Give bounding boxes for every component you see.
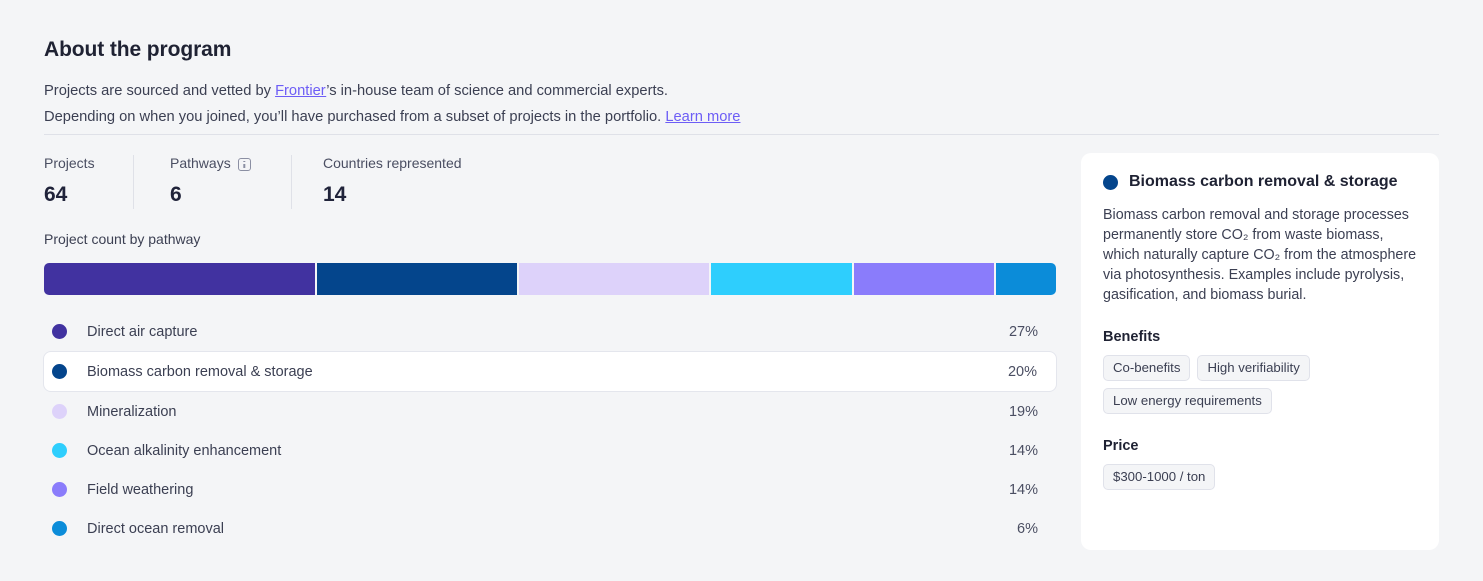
legend-label: Mineralization: [87, 404, 176, 420]
legend-label: Direct ocean removal: [87, 521, 224, 537]
legend-color-dot-icon: [52, 324, 67, 339]
legend-row[interactable]: Direct air capture27%: [44, 312, 1057, 351]
stat-pathways-label-text: Pathways: [170, 155, 231, 171]
legend-color-dot-icon: [52, 482, 67, 497]
bar-segment[interactable]: [854, 263, 994, 295]
legend-percent: 20%: [1008, 364, 1037, 380]
legend-percent: 14%: [1009, 443, 1038, 459]
legend-percent: 14%: [1009, 482, 1038, 498]
benefit-chip: Low energy requirements: [1103, 388, 1272, 414]
learn-more-link[interactable]: Learn more: [665, 109, 740, 125]
stat-projects: Projects 64: [44, 155, 95, 207]
stat-countries-label: Countries represented: [323, 155, 462, 171]
about-the-program-panel: About the program Projects are sourced a…: [0, 0, 1483, 581]
legend-row[interactable]: Mineralization19%: [44, 392, 1057, 431]
bar-segment[interactable]: [519, 263, 709, 295]
legend-row[interactable]: Field weathering14%: [44, 470, 1057, 509]
legend-color-dot-icon: [52, 404, 67, 419]
legend-row[interactable]: Biomass carbon removal & storage20%: [43, 351, 1057, 392]
about-description-line-2: Depending on when you joined, you’ll hav…: [44, 104, 1144, 130]
legend-label: Biomass carbon removal & storage: [87, 364, 313, 380]
about-line1-pre: Projects are sourced and vetted by: [44, 83, 275, 99]
stat-divider-2: [291, 155, 292, 209]
info-icon[interactable]: [238, 158, 251, 171]
bar-segment[interactable]: [996, 263, 1056, 295]
stat-pathways: Pathways 6: [170, 155, 251, 207]
header-divider: [44, 134, 1439, 135]
price-chip: $300-1000 / ton: [1103, 464, 1215, 490]
benefits-heading: Benefits: [1103, 329, 1417, 345]
legend-color-dot-icon: [52, 521, 67, 536]
price-heading: Price: [1103, 438, 1417, 454]
pathway-detail-header: Biomass carbon removal & storage: [1103, 173, 1417, 191]
legend-row[interactable]: Ocean alkalinity enhancement14%: [44, 431, 1057, 470]
benefits-chip-list: Co-benefitsHigh verifiabilityLow energy …: [1103, 355, 1417, 414]
pathway-detail-panel: Biomass carbon removal & storage Biomass…: [1081, 153, 1439, 550]
about-line1-post: ’s in-house team of science and commerci…: [326, 83, 668, 99]
pathway-color-dot-icon: [1103, 175, 1118, 190]
stat-projects-label: Projects: [44, 155, 95, 171]
about-line2-pre: Depending on when you joined, you’ll hav…: [44, 109, 665, 125]
legend-percent: 19%: [1009, 404, 1038, 420]
about-description-line-1: Projects are sourced and vetted by Front…: [44, 78, 1144, 104]
stat-countries-value: 14: [323, 183, 462, 207]
stacked-bar-chart: [44, 263, 1056, 295]
pathway-legend-list: Direct air capture27%Biomass carbon remo…: [44, 312, 1057, 548]
bar-segment[interactable]: [44, 263, 315, 295]
pathway-detail-title: Biomass carbon removal & storage: [1129, 173, 1398, 191]
price-chip-list: $300-1000 / ton: [1103, 464, 1417, 490]
legend-label: Ocean alkalinity enhancement: [87, 443, 281, 459]
stat-pathways-value: 6: [170, 183, 251, 207]
frontier-link[interactable]: Frontier: [275, 83, 326, 99]
legend-percent: 27%: [1009, 324, 1038, 340]
benefit-chip: Co-benefits: [1103, 355, 1190, 381]
stat-pathways-label: Pathways: [170, 155, 251, 171]
bar-segment[interactable]: [317, 263, 517, 295]
legend-percent: 6%: [1017, 521, 1038, 537]
benefit-chip: High verifiability: [1197, 355, 1309, 381]
legend-row[interactable]: Direct ocean removal6%: [44, 509, 1057, 548]
stat-projects-value: 64: [44, 183, 95, 207]
legend-color-dot-icon: [52, 364, 67, 379]
chart-caption: Project count by pathway: [44, 231, 200, 247]
legend-color-dot-icon: [52, 443, 67, 458]
pathway-detail-description: Biomass carbon removal and storage proce…: [1103, 205, 1417, 305]
stat-countries: Countries represented 14: [323, 155, 462, 207]
bar-segment[interactable]: [711, 263, 851, 295]
stat-divider-1: [133, 155, 134, 209]
about-description: Projects are sourced and vetted by Front…: [44, 78, 1144, 130]
page-title: About the program: [44, 38, 231, 62]
legend-label: Field weathering: [87, 482, 193, 498]
legend-label: Direct air capture: [87, 324, 197, 340]
